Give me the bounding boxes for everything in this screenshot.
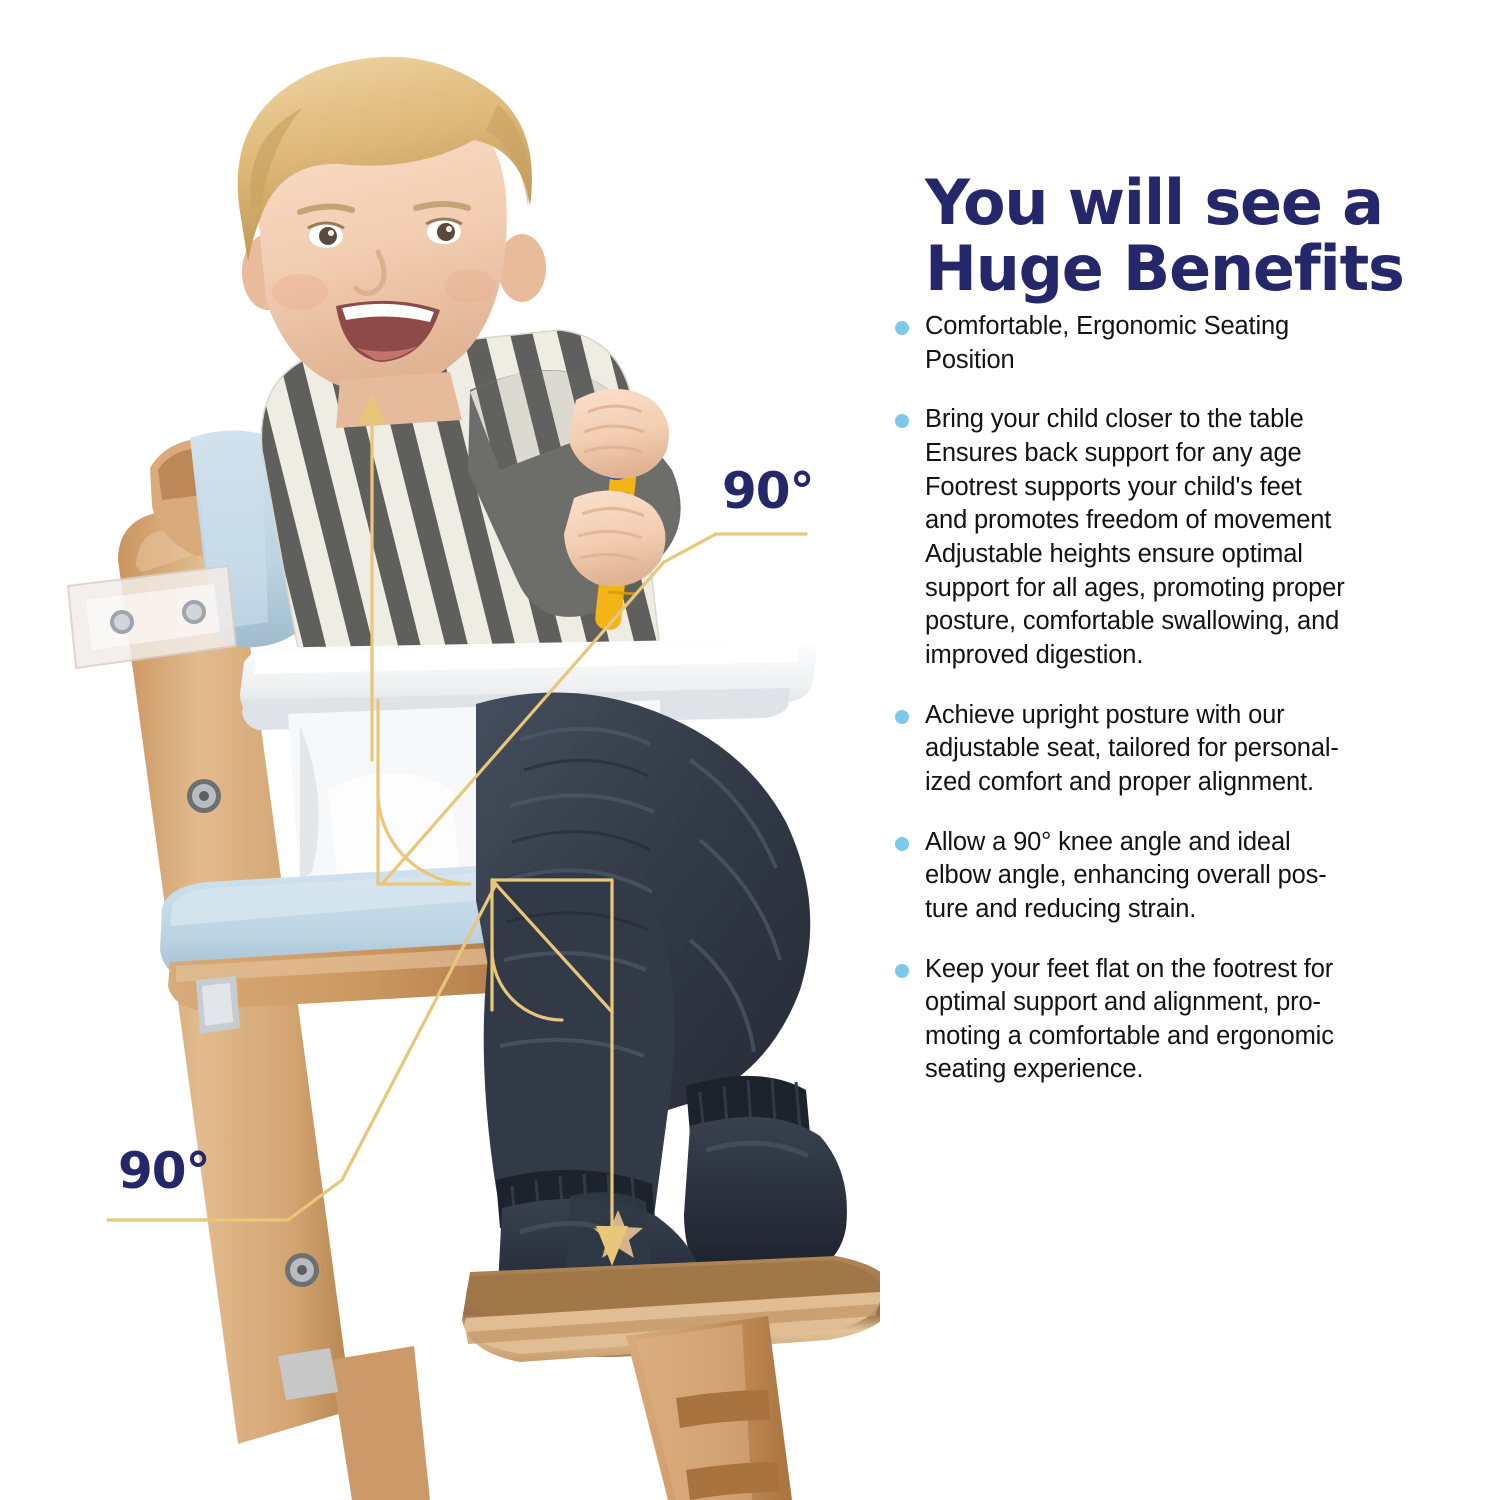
bullet-dot-icon [895,321,909,335]
benefit-text: Keep your feet flat on the footrest for … [925,953,1490,1088]
list-item: Achieve upright posture with our adjusta… [890,699,1490,800]
list-item: Bring your child closer to the table Ens… [890,403,1490,672]
benefit-text: Allow a 90° knee angle and ideal elbow a… [925,826,1490,927]
headline-line-1: You will see a [925,166,1383,239]
angle-label-back-seat: 90° [118,1146,210,1196]
list-item: Allow a 90° knee angle and ideal elbow a… [890,826,1490,927]
benefit-text: Comfortable, Ergonomic Seating Position [925,310,1490,377]
list-item: Keep your feet flat on the footrest for … [890,953,1490,1088]
benefits-panel: You will see a Huge Benefits Comfortable… [880,0,1500,1500]
headline-line-2: Huge Benefits [925,232,1404,305]
angle-label-knee-elbow: 90° [722,466,814,516]
bullet-dot-icon [895,837,909,851]
bullet-dot-icon [895,414,909,428]
benefit-text: Achieve upright posture with our adjusta… [925,699,1490,800]
page-title: You will see a Huge Benefits [925,170,1465,304]
benefits-list: Comfortable, Ergonomic Seating Position … [890,310,1490,1113]
bullet-dot-icon [895,710,909,724]
bullet-dot-icon [895,964,909,978]
list-item: Comfortable, Ergonomic Seating Position [890,310,1490,377]
infographic-page: 90° 90° You will see a Huge Benefits Com… [0,0,1500,1500]
benefit-text: Bring your child closer to the table Ens… [925,403,1490,672]
product-photo [0,0,880,1500]
